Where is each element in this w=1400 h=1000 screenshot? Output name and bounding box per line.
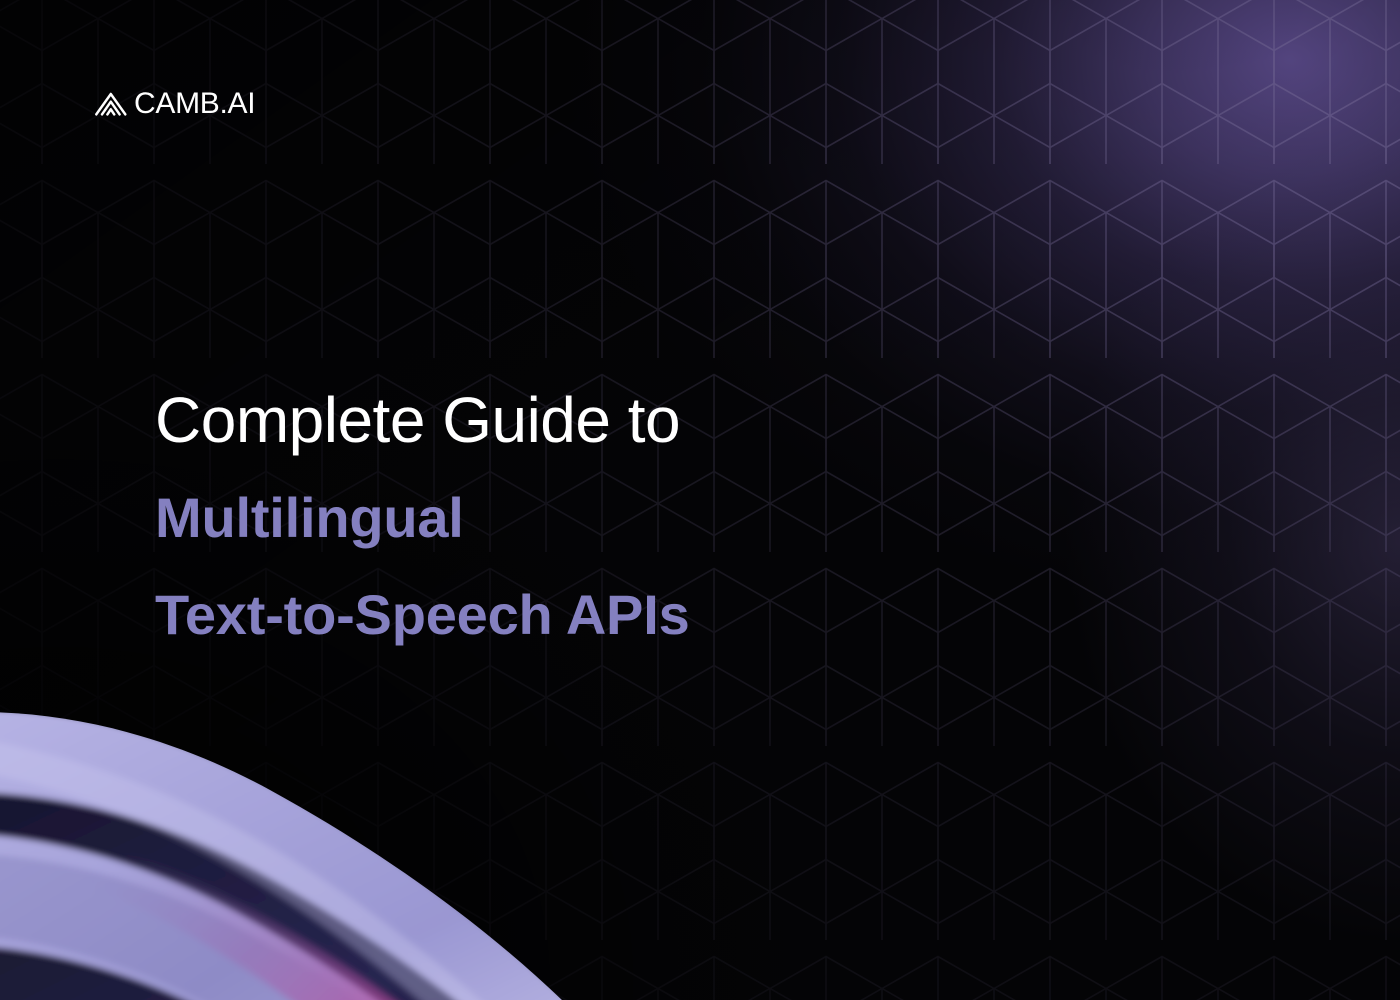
brand-logo[interactable]: CAMB.AI (92, 84, 255, 122)
brand-wordmark: CAMB.AI (134, 89, 255, 119)
blog-cover-canvas: CAMB.AI Complete Guide to Multilingual T… (0, 0, 1400, 1000)
title-line-2: Multilingual (155, 469, 690, 566)
title-line-1: Complete Guide to (155, 372, 690, 469)
title-line-3: Text-to-Speech APIs (155, 566, 690, 663)
page-title: Complete Guide to Multilingual Text-to-S… (155, 372, 690, 663)
camb-chevron-icon (92, 84, 130, 122)
